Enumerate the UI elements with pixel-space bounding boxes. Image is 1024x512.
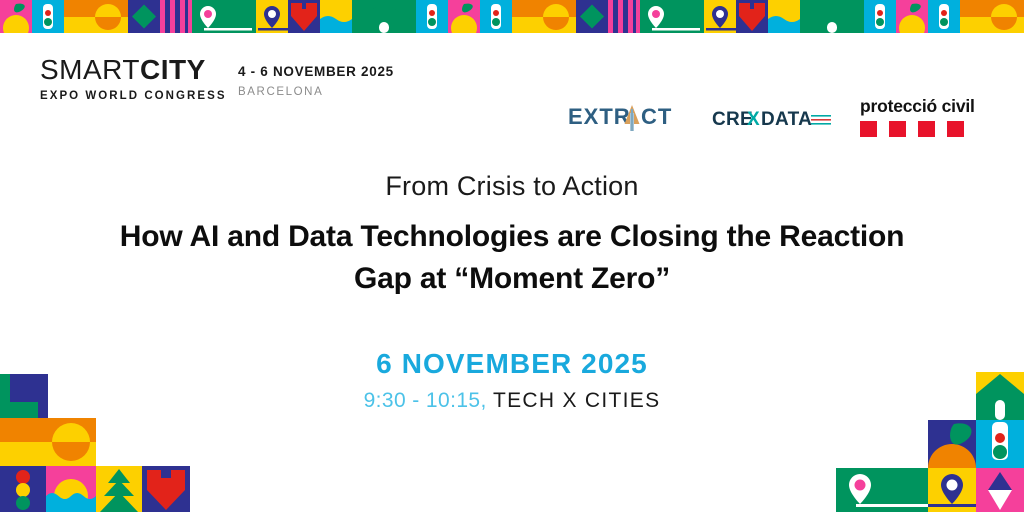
traffic-light-icon [416, 0, 448, 33]
tile-map-pin-pink [192, 0, 256, 33]
proteccio-civil-wordmark: protecció civil [860, 96, 1000, 116]
tile-traffic-light [864, 0, 896, 33]
tile-sun-half [64, 0, 128, 33]
sun-half-icon [64, 0, 128, 33]
traffic-light-icon [976, 420, 1024, 468]
tile-traffic-light [0, 466, 46, 512]
proteccio-civil-squares [860, 121, 1000, 137]
house-icon [352, 0, 416, 33]
logo-line-2: EXPO WORLD CONGRESS [40, 90, 227, 102]
logo-smart: SMART [40, 54, 140, 85]
proteccio-civil-logo: protecció civil [860, 96, 1000, 138]
tile-traffic-light [32, 0, 64, 33]
tile-heart [288, 0, 320, 33]
crexdata-wordmark-icon: CRE X DATA [712, 105, 832, 133]
sunset-water-icon [46, 466, 96, 512]
tile-map-pin-pink [836, 468, 928, 512]
poster-canvas: SMARTCITY EXPO WORLD CONGRESS 4 - 6 NOVE… [0, 0, 1024, 512]
tile-leaf-orange [0, 0, 32, 33]
diamond-icon [128, 0, 160, 33]
red-square [947, 121, 964, 137]
tile-sun-half [512, 0, 576, 33]
tile-hourglass [976, 468, 1024, 512]
sun-half-icon [0, 418, 96, 466]
tile-stripes [160, 0, 192, 33]
traffic-light-icon [480, 0, 512, 33]
extract-wordmark-icon: EXTR CT [568, 101, 693, 133]
hourglass-icon [976, 468, 1024, 512]
tile-house [352, 0, 416, 33]
session-title: How AI and Data Technologies are Closing… [0, 216, 1024, 301]
red-square [860, 121, 877, 137]
traffic-light-icon [864, 0, 896, 33]
logo-city: CITY [140, 54, 206, 85]
diamond-icon [576, 0, 608, 33]
tile-map-pin-pink [640, 0, 704, 33]
tile-heart [736, 0, 768, 33]
tile-traffic-light [928, 0, 960, 33]
logo-line-1: SMARTCITY [40, 56, 227, 84]
tree-icon [96, 466, 142, 512]
heart-icon [288, 0, 320, 33]
tile-map-pin-navy [704, 0, 736, 33]
sunset-umbrella-icon [320, 0, 352, 33]
event-city: BARCELONA [238, 86, 394, 98]
map-pin-pink-icon [192, 0, 256, 33]
tile-sunset-water [46, 466, 96, 512]
leaf-orange-icon [896, 0, 928, 33]
tile-sun-band [0, 418, 96, 466]
tile-diamond [576, 0, 608, 33]
sun-half-icon [960, 0, 1024, 33]
map-pin-navy-icon [256, 0, 288, 33]
poster-header: SMARTCITY EXPO WORLD CONGRESS 4 - 6 NOVE… [0, 33, 1024, 143]
house-icon [800, 0, 864, 33]
tile-traffic-light [416, 0, 448, 33]
tile-leaf-orange [928, 420, 976, 468]
map-pin-navy-icon [704, 0, 736, 33]
svg-text:CT: CT [641, 104, 672, 129]
top-pattern-strip [0, 0, 1024, 33]
red-square [918, 121, 935, 137]
stripes-icon [608, 0, 640, 33]
leaf-orange-icon [928, 420, 976, 468]
bottom-left-pattern [0, 360, 190, 512]
map-pin-pink-icon [640, 0, 704, 33]
bottom-right-pattern [824, 372, 1024, 512]
session-time: 9:30 - 10:15, [364, 389, 487, 412]
tile-leaf-orange [896, 0, 928, 33]
event-dates-block: 4 - 6 NOVEMBER 2025 BARCELONA [238, 64, 394, 98]
session-eyebrow: From Crisis to Action [0, 170, 1024, 204]
tile-heart [142, 466, 190, 512]
stripes-icon [160, 0, 192, 33]
tile-traffic-light [976, 420, 1024, 468]
extract-logo: EXTR CT [568, 101, 693, 133]
leaf-orange-icon [0, 0, 32, 33]
house-icon [976, 372, 1024, 420]
sun-half-icon [512, 0, 576, 33]
event-dates: 4 - 6 NOVEMBER 2025 [238, 64, 394, 79]
tile-house [800, 0, 864, 33]
tile-map-pin-navy [256, 0, 288, 33]
tile-diamond [128, 0, 160, 33]
smart-city-expo-logo: SMARTCITY EXPO WORLD CONGRESS [40, 56, 227, 102]
map-pin-pink-icon [836, 468, 928, 512]
traffic-light-icon [928, 0, 960, 33]
map-pin-navy-icon [928, 468, 976, 512]
leaf-orange-icon [448, 0, 480, 33]
heart-icon [142, 466, 190, 512]
heart-icon [736, 0, 768, 33]
tile-stripes [608, 0, 640, 33]
tile-sunset-umbrella [320, 0, 352, 33]
red-square [889, 121, 906, 137]
tile-tree [96, 466, 142, 512]
svg-text:X: X [747, 109, 760, 130]
session-stage: TECH X CITIES [493, 389, 660, 412]
svg-text:EXTR: EXTR [568, 104, 631, 129]
tile-leaf-orange [448, 0, 480, 33]
traffic-light-icon [0, 466, 46, 512]
tile-map-pin-navy [928, 468, 976, 512]
svg-text:DATA: DATA [761, 109, 812, 130]
tile-traffic-light [480, 0, 512, 33]
crexdata-logo: CRE X DATA [712, 105, 832, 133]
traffic-light-icon [32, 0, 64, 33]
tile-sun-half [960, 0, 1024, 33]
tile-sunset-umbrella [768, 0, 800, 33]
sunset-umbrella-icon [768, 0, 800, 33]
tile-house [976, 372, 1024, 420]
